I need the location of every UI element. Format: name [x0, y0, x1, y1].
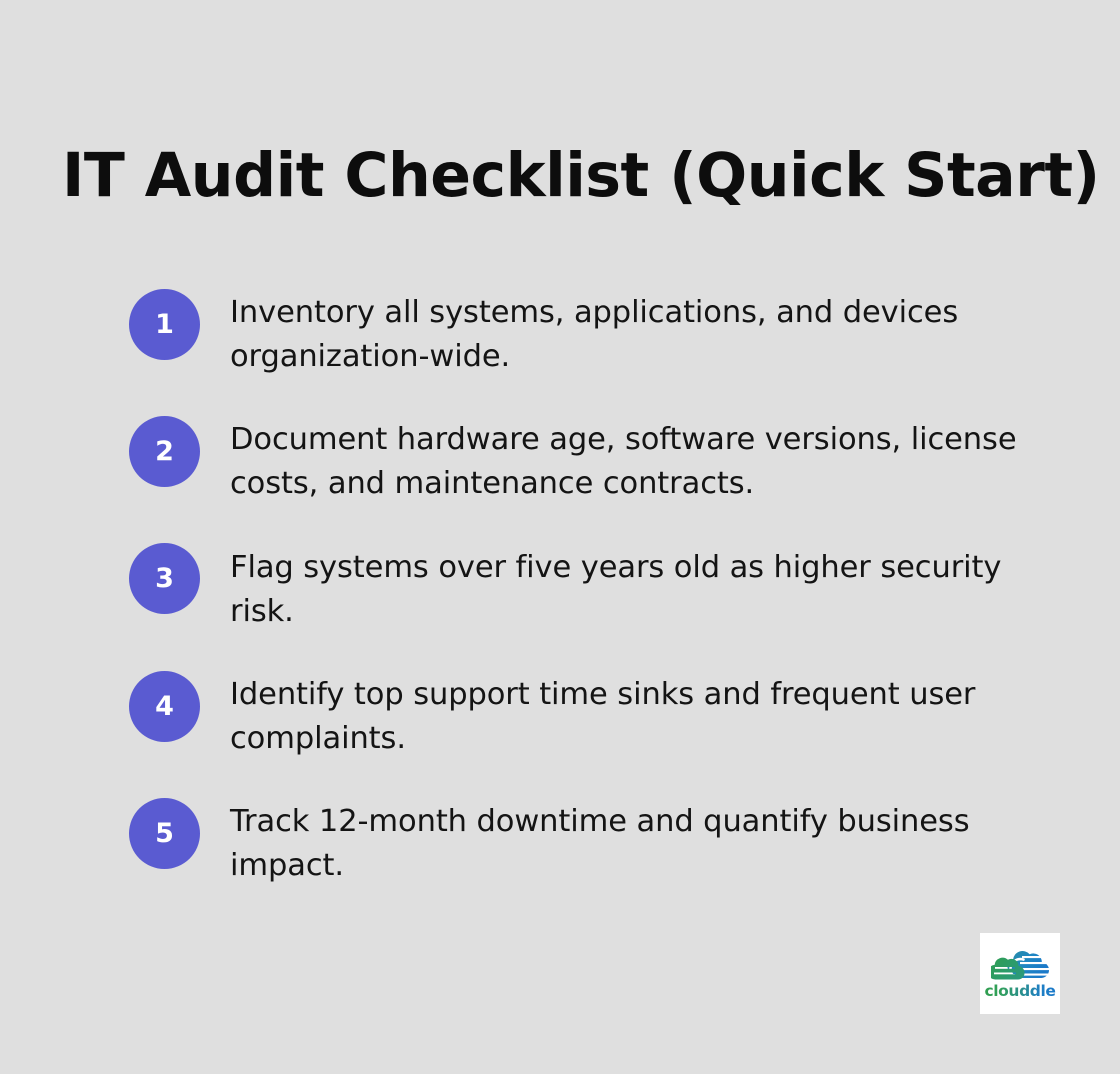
- list-item: 3 Flag systems over five years old as hi…: [129, 540, 1059, 634]
- brand-logo-card: clouddle: [980, 933, 1060, 1014]
- list-item: 5 Track 12-month downtime and quantify b…: [129, 795, 1059, 888]
- list-item: 1 Inventory all systems, applications, a…: [129, 286, 1059, 379]
- list-item-number-badge: 5: [129, 798, 200, 869]
- brand-wordmark: clouddle: [984, 984, 1055, 1000]
- list-item-number-badge: 1: [129, 289, 200, 360]
- two-overlapping-clouds-icon: [991, 948, 1049, 983]
- list-item-number-badge: 4: [129, 671, 200, 742]
- list-item-number-badge: 3: [129, 543, 200, 614]
- list-item-text: Identify top support time sinks and freq…: [230, 668, 1042, 761]
- list-item-text: Flag systems over five years old as high…: [230, 540, 1042, 634]
- checklist: 1 Inventory all systems, applications, a…: [129, 286, 1059, 888]
- list-item-number-badge: 2: [129, 416, 200, 487]
- list-item-text: Document hardware age, software versions…: [230, 413, 1042, 506]
- list-item-text: Inventory all systems, applications, and…: [230, 286, 1042, 379]
- list-item-text: Track 12-month downtime and quantify bus…: [230, 795, 1042, 888]
- slide-canvas: IT Audit Checklist (Quick Start) 1 Inven…: [0, 0, 1120, 1074]
- page-title: IT Audit Checklist (Quick Start): [62, 142, 1047, 210]
- list-item: 2 Document hardware age, software versio…: [129, 413, 1059, 506]
- list-item: 4 Identify top support time sinks and fr…: [129, 668, 1059, 761]
